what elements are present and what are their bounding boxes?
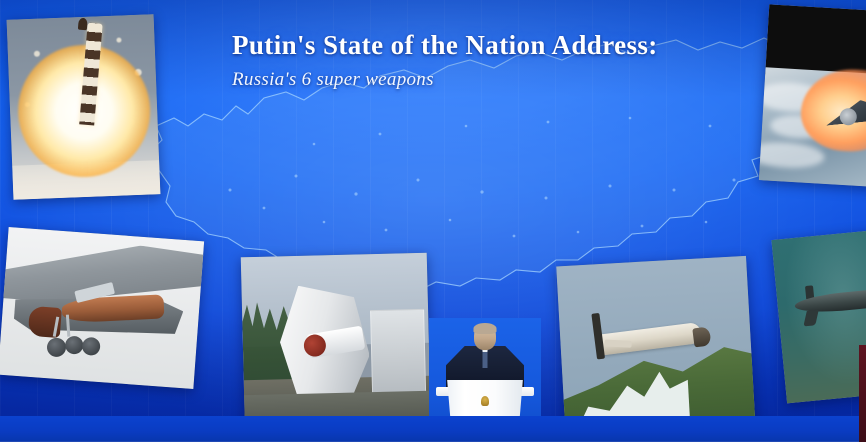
- snow-fleck: [116, 37, 121, 42]
- right-edge-strip: [859, 345, 866, 442]
- photo-panel-icbm-launch[interactable]: [7, 14, 161, 200]
- landing-gear-wheel: [64, 335, 83, 354]
- speaker-hair: [474, 323, 497, 334]
- photo-panel-avangard-reentry[interactable]: [759, 4, 866, 187]
- page-subtitle: Russia's 6 super weapons: [232, 69, 752, 91]
- page-title: Putin's State of the Nation Address:: [232, 30, 752, 60]
- photo-panel-peresvet-laser[interactable]: [241, 253, 432, 442]
- speaker-tie: [483, 352, 488, 368]
- broadcast-graphic: Putin's State of the Nation Address: Rus…: [0, 0, 866, 442]
- equipment-cabinet: [370, 309, 426, 398]
- photo-panel-burevestnik-missile[interactable]: [556, 256, 756, 442]
- underwater-light-haze: [771, 229, 866, 404]
- title-block: Putin's State of the Nation Address: Rus…: [232, 30, 752, 91]
- podium-emblem-icon: [481, 396, 489, 406]
- photo-panel-mig31-kinzhal[interactable]: [0, 227, 204, 389]
- stage-floor-band: [0, 416, 866, 442]
- photo-panel-poseidon-drone[interactable]: [771, 229, 866, 404]
